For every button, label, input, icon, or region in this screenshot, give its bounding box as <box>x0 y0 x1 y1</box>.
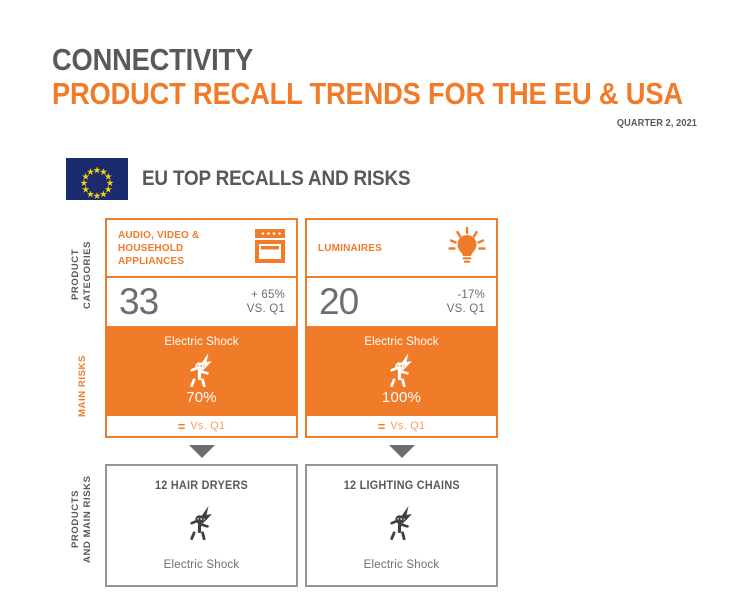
section-title: EU TOP RECALLS AND RISKS <box>142 167 410 191</box>
main-risk-band: Electric Shock 100% <box>307 326 496 414</box>
page-title-secondary: PRODUCT RECALL TRENDS FOR THE EU & USA <box>52 77 620 112</box>
arrow-down-icon <box>389 445 415 458</box>
electric-shock-icon <box>387 506 417 545</box>
main-risk-band: Electric Shock 70% <box>107 326 296 414</box>
page-title-primary: CONNECTIVITY <box>52 44 620 77</box>
recall-delta-value: -17% <box>447 288 485 302</box>
recall-delta-reference: VS. Q1 <box>247 302 285 316</box>
category-column: AUDIO, VIDEO & HOUSEHOLD APPLIANCES 33 +… <box>105 218 298 587</box>
main-risk-name: Electric Shock <box>107 335 296 350</box>
main-risk-trend: = Vs. Q1 <box>107 414 296 436</box>
recall-count: 20 <box>319 284 358 320</box>
trend-equal-icon: = <box>378 420 386 433</box>
recall-count-row: 33 + 65% VS. Q1 <box>107 278 296 326</box>
product-card[interactable]: 12 HAIR DRYERS Electric Shock <box>105 464 298 587</box>
recall-delta-reference: VS. Q1 <box>447 302 485 316</box>
category-name: LUMINAIRES <box>318 242 382 255</box>
section-header: EU TOP RECALLS AND RISKS <box>66 158 440 200</box>
product-name: 12 LIGHTING CHAINS <box>343 480 459 492</box>
eu-flag-icon <box>66 158 128 200</box>
electric-shock-icon <box>187 506 217 545</box>
recall-count-row: 20 -17% VS. Q1 <box>307 278 496 326</box>
main-risk-trend: = Vs. Q1 <box>307 414 496 436</box>
main-risk-percentage: 100% <box>307 389 496 406</box>
light-bulb-icon <box>447 226 487 271</box>
category-card-header: LUMINAIRES <box>307 220 496 278</box>
trend-equal-icon: = <box>178 420 186 433</box>
product-risk: Electric Shock <box>164 559 240 571</box>
trend-reference: Vs. Q1 <box>190 420 225 432</box>
axis-label-product-categories: PRODUCT CATEGORIES <box>70 222 94 327</box>
axis-label-products-and-main-risks: PRODUCTS AND MAIN RISKS <box>70 460 94 578</box>
arrow-down-icon <box>189 445 215 458</box>
oven-icon <box>253 228 287 269</box>
electric-shock-icon <box>307 351 496 389</box>
eu-flag-stars <box>66 158 128 200</box>
title-block: CONNECTIVITY PRODUCT RECALL TRENDS FOR T… <box>52 44 697 129</box>
product-name: 12 HAIR DRYERS <box>155 480 248 492</box>
recall-count: 33 <box>119 284 158 320</box>
category-card[interactable]: LUMINAIRES <box>305 218 498 438</box>
category-card-header: AUDIO, VIDEO & HOUSEHOLD APPLIANCES <box>107 220 296 278</box>
category-name: AUDIO, VIDEO & HOUSEHOLD APPLIANCES <box>118 229 246 268</box>
recall-delta-value: + 65% <box>247 288 285 302</box>
recall-delta: -17% VS. Q1 <box>447 288 485 316</box>
electric-shock-icon <box>107 351 296 389</box>
product-risk: Electric Shock <box>364 559 440 571</box>
product-card[interactable]: 12 LIGHTING CHAINS Electric Shock <box>305 464 498 587</box>
recall-delta: + 65% VS. Q1 <box>247 288 285 316</box>
quarter-label: QUARTER 2, 2021 <box>104 118 697 129</box>
trend-reference: Vs. Q1 <box>390 420 425 432</box>
main-risk-percentage: 70% <box>107 389 296 406</box>
axis-label-main-risks: MAIN RISKS <box>77 340 89 432</box>
category-column: LUMINAIRES <box>305 218 498 587</box>
main-risk-name: Electric Shock <box>307 335 496 350</box>
category-card[interactable]: AUDIO, VIDEO & HOUSEHOLD APPLIANCES 33 +… <box>105 218 298 438</box>
